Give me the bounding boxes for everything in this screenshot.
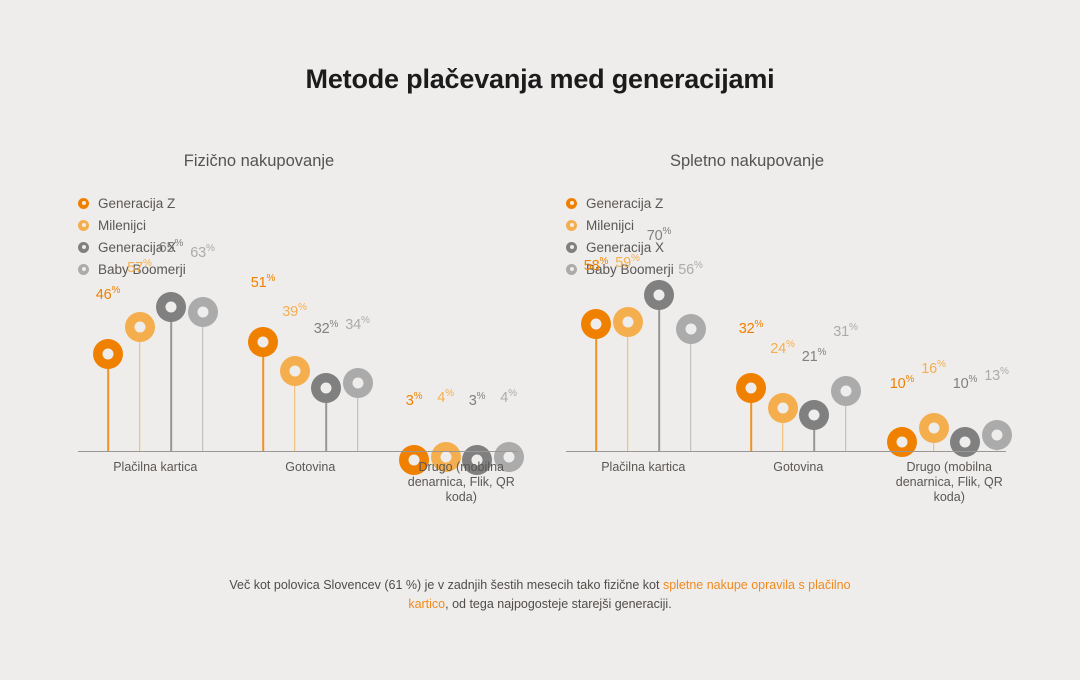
data-point-marker[interactable]: [676, 314, 706, 344]
marker-hole: [197, 307, 208, 318]
legend-item-label: Generacija Z: [98, 196, 175, 211]
marker-hole: [960, 437, 971, 448]
baseline-axis: [78, 451, 518, 453]
marker-hole: [991, 430, 1002, 441]
x-axis-category-label: Plačilna kartica: [95, 460, 215, 475]
data-point-marker[interactable]: [581, 309, 611, 339]
legend-dot-icon: [78, 198, 89, 209]
x-axis-category-label: Drugo (mobilna denarnica, Flik, QR koda): [889, 460, 1009, 505]
data-point-marker[interactable]: [887, 427, 917, 457]
chart-page: Metode plačevanja med generacijami Fizič…: [0, 0, 1080, 680]
data-value-label: 63%: [190, 243, 214, 261]
x-axis-category-label: Gotovina: [738, 460, 858, 475]
data-point-marker[interactable]: [982, 420, 1012, 450]
data-value-label: 21%: [802, 347, 826, 365]
data-point-marker[interactable]: [613, 307, 643, 337]
marker-hole: [134, 321, 145, 332]
data-value-label: 57%: [127, 258, 151, 276]
data-value-label: 13%: [984, 366, 1008, 384]
legend-dot-icon: [566, 242, 577, 253]
data-point-marker[interactable]: [156, 292, 186, 322]
data-value-label: 31%: [833, 322, 857, 340]
plot-area-left: 46%57%65%63%51%39%32%34%3%4%3%4% Plačiln…: [78, 270, 518, 500]
data-point-marker[interactable]: [644, 280, 674, 310]
data-point-marker[interactable]: [831, 376, 861, 406]
data-value-label: 16%: [921, 359, 945, 377]
data-value-label: 32%: [314, 320, 338, 338]
data-point-marker[interactable]: [950, 427, 980, 457]
x-axis-labels-right: Plačilna karticaGotovinaDrugo (mobilna d…: [566, 454, 1006, 500]
data-value-label: 56%: [678, 261, 702, 279]
data-value-label: 34%: [345, 315, 369, 333]
data-value-label: 4%: [437, 389, 454, 407]
legend-dot-icon: [78, 220, 89, 231]
marker-hole: [809, 410, 820, 421]
marker-hole: [685, 324, 696, 335]
marker-hole: [840, 385, 851, 396]
legend-item-label: Generacija Z: [586, 196, 663, 211]
plot-area-right: 58%59%70%56%32%24%21%31%10%16%10%13% Pla…: [566, 270, 1006, 500]
data-value-label: 70%: [647, 226, 671, 244]
marker-hole: [746, 383, 757, 394]
legend-dot-icon: [78, 242, 89, 253]
marker-hole: [622, 316, 633, 327]
data-value-label: 24%: [770, 339, 794, 357]
marker-hole: [897, 437, 908, 448]
data-point-marker[interactable]: [248, 327, 278, 357]
legend-item[interactable]: Generacija Z: [78, 192, 186, 214]
data-point-marker[interactable]: [736, 373, 766, 403]
data-point-marker[interactable]: [188, 297, 218, 327]
marker-hole: [166, 302, 177, 313]
data-value-label: 4%: [500, 389, 517, 407]
legend-dot-icon: [566, 198, 577, 209]
legend-item-label: Milenijci: [586, 218, 634, 233]
data-value-label: 51%: [251, 273, 275, 291]
panel-spletno: Spletno nakupovanje Generacija ZMilenijc…: [548, 140, 1008, 560]
data-point-marker[interactable]: [311, 373, 341, 403]
data-value-label: 3%: [406, 391, 423, 409]
marker-hole: [352, 378, 363, 389]
footer-text-part1: Več kot polovica Slovencev (61 %) je v z…: [229, 578, 663, 592]
panel-subtitle: Fizično nakupovanje: [60, 152, 520, 171]
marker-hole: [289, 366, 300, 377]
panel-fizicno: Fizično nakupovanje Generacija ZMilenijc…: [60, 140, 520, 560]
data-point-marker[interactable]: [799, 400, 829, 430]
baseline-axis: [566, 451, 1006, 453]
panel-subtitle: Spletno nakupovanje: [548, 152, 1008, 171]
legend-item[interactable]: Milenijci: [78, 214, 186, 236]
x-axis-category-label: Gotovina: [250, 460, 370, 475]
data-value-label: 32%: [739, 320, 763, 338]
marker-hole: [928, 422, 939, 433]
marker-hole: [777, 402, 788, 413]
marker-hole: [258, 336, 269, 347]
footer-note: Več kot polovica Slovencev (61 %) je v z…: [0, 576, 1080, 614]
x-axis-labels-left: Plačilna karticaGotovinaDrugo (mobilna d…: [78, 454, 518, 500]
footer-text-part2: , od tega najpogosteje starejši generaci…: [445, 597, 672, 611]
data-value-label: 58%: [584, 256, 608, 274]
data-point-marker[interactable]: [343, 368, 373, 398]
marker-hole: [591, 319, 602, 330]
x-axis-category-label: Drugo (mobilna denarnica, Flik, QR koda): [401, 460, 521, 505]
legend-item[interactable]: Generacija Z: [566, 192, 674, 214]
data-value-label: 46%: [96, 285, 120, 303]
marker-hole: [103, 348, 114, 359]
data-value-label: 59%: [615, 253, 639, 271]
page-title: Metode plačevanja med generacijami: [0, 64, 1080, 95]
x-axis-category-label: Plačilna kartica: [583, 460, 703, 475]
marker-hole: [654, 289, 665, 300]
data-value-label: 65%: [159, 238, 183, 256]
data-value-label: 3%: [469, 391, 486, 409]
marker-hole: [321, 383, 332, 394]
data-point-marker[interactable]: [125, 312, 155, 342]
data-point-marker[interactable]: [768, 393, 798, 423]
legend-item-label: Milenijci: [98, 218, 146, 233]
data-value-label: 10%: [890, 374, 914, 392]
legend-dot-icon: [566, 220, 577, 231]
data-point-marker[interactable]: [280, 356, 310, 386]
data-value-label: 39%: [282, 302, 306, 320]
data-value-label: 10%: [953, 374, 977, 392]
data-point-marker[interactable]: [93, 339, 123, 369]
data-point-marker[interactable]: [919, 413, 949, 443]
